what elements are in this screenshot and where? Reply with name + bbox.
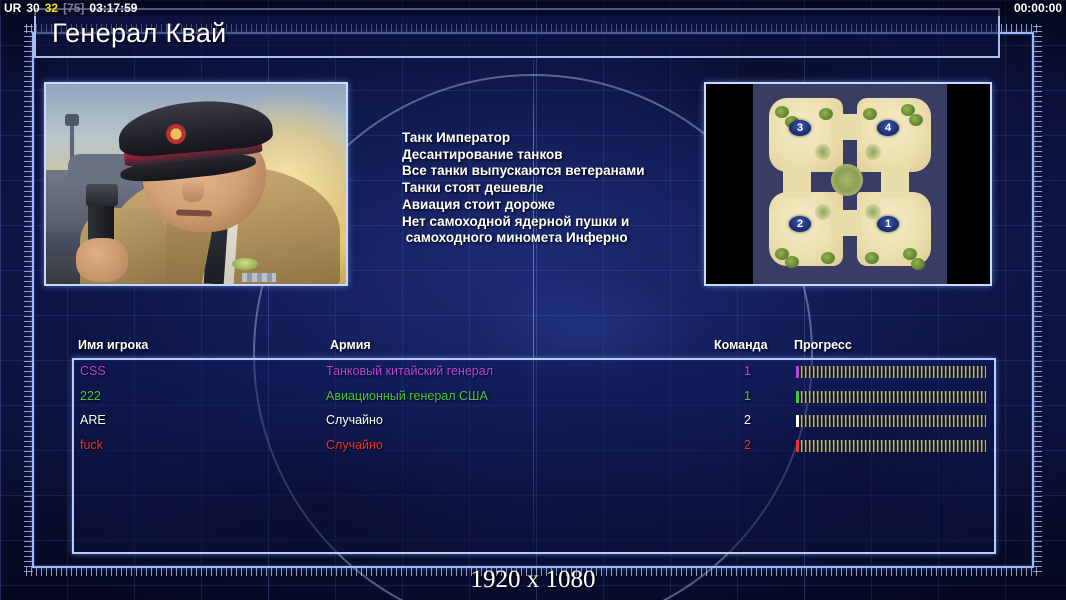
players-table: CSSТанковый китайский генерал1222Авиацио…: [72, 358, 996, 554]
player-team: 1: [744, 389, 751, 403]
page-title: Генерал Квай: [36, 18, 227, 49]
minimap-scrub: [865, 252, 879, 264]
game-screen: UR 30 32 [75] 03:17:59 00:00:00 Генерал …: [0, 0, 1066, 600]
description-line: Танк Император: [402, 130, 704, 147]
minimap-start-position-2: 2: [789, 216, 811, 232]
player-progress-bar: [796, 391, 986, 403]
description-line: Все танки выпускаются ветеранами: [402, 163, 704, 180]
player-progress-bar: [796, 415, 986, 427]
table-row[interactable]: 222Авиационный генерал США1: [74, 385, 994, 410]
minimap[interactable]: 3421: [753, 84, 947, 284]
player-progress-bar: [796, 440, 986, 452]
minimap-center-oasis: [831, 164, 863, 196]
minimap-start-position-4: 4: [877, 120, 899, 136]
ruler-right: [1033, 26, 1042, 574]
general-info-row: Танк Император Десантирование танков Все…: [44, 82, 992, 290]
portrait-pistol-slide: [86, 184, 118, 206]
table-row[interactable]: AREСлучайно2: [74, 409, 994, 434]
description-line: Авиация стоит дороже: [402, 197, 704, 214]
column-header-name: Имя игрока: [78, 338, 148, 352]
general-portrait: [46, 84, 346, 284]
minimap-frame[interactable]: 3421: [704, 82, 992, 286]
player-progress-color-cap: [796, 391, 799, 403]
table-row[interactable]: fuckСлучайно2: [74, 434, 994, 459]
minimap-scrub: [785, 256, 799, 268]
player-progress-fill: [796, 440, 986, 452]
table-row[interactable]: CSSТанковый китайский генерал1: [74, 360, 994, 385]
portrait-nose: [182, 178, 204, 202]
minimap-bridge-south: [831, 210, 861, 236]
player-name: fuck: [80, 438, 103, 452]
player-progress-color-cap: [796, 440, 799, 452]
player-progress-color-cap: [796, 366, 799, 378]
status-label: UR: [4, 1, 21, 15]
status-bar: UR 30 32 [75] 03:17:59 00:00:00: [0, 0, 1066, 16]
player-progress-bar: [796, 366, 986, 378]
column-header-progress: Прогресс: [794, 338, 852, 352]
player-army: Случайно: [326, 413, 383, 427]
player-team: 1: [744, 364, 751, 378]
portrait-wing-badge: [232, 258, 258, 270]
players-table-header: Имя игрока Армия Команда Прогресс: [78, 338, 994, 358]
status-value-1: 30: [26, 1, 39, 15]
description-line: Десантирование танков: [402, 147, 704, 164]
status-clock: 03:17:59: [89, 1, 137, 15]
status-bar-left: UR 30 32 [75] 03:17:59: [4, 1, 137, 15]
status-right-timer: 00:00:00: [1014, 1, 1062, 15]
player-progress-fill: [796, 391, 986, 403]
general-description: Танк Император Десантирование танков Все…: [348, 82, 704, 290]
player-name: 222: [80, 389, 101, 403]
minimap-bridge-north: [831, 114, 861, 140]
minimap-bridge-east: [881, 164, 909, 198]
description-line: Нет самоходной ядерной пушки и: [402, 214, 704, 231]
description-line: Танки стоят дешевле: [402, 180, 704, 197]
minimap-oasis: [865, 144, 881, 160]
minimap-oasis: [815, 204, 831, 220]
description-line: самоходного миномета Инферно: [402, 230, 704, 247]
player-progress-fill: [796, 415, 986, 427]
minimap-scrub: [863, 108, 877, 120]
player-progress-fill: [796, 366, 986, 378]
player-progress-color-cap: [796, 415, 799, 427]
resolution-label: 1920 x 1080: [0, 566, 1066, 594]
general-portrait-frame: [44, 82, 348, 286]
portrait-mouth: [176, 209, 212, 216]
player-name: CSS: [80, 364, 106, 378]
player-team: 2: [744, 438, 751, 452]
minimap-oasis: [815, 144, 831, 160]
minimap-scrub: [911, 258, 925, 270]
minimap-oasis: [865, 204, 881, 220]
player-army: Танковый китайский генерал: [326, 364, 493, 378]
minimap-scrub: [821, 252, 835, 264]
player-team: 2: [744, 413, 751, 427]
status-value-2: 32: [45, 1, 58, 15]
player-army: Авиационный генерал США: [326, 389, 488, 403]
minimap-bridge-west: [783, 164, 811, 198]
status-bracket: [75]: [63, 1, 84, 15]
column-header-team: Команда: [714, 338, 768, 352]
minimap-scrub: [819, 108, 833, 120]
player-name: ARE: [80, 413, 106, 427]
player-army: Случайно: [326, 438, 383, 452]
minimap-start-position-3: 3: [789, 120, 811, 136]
portrait-ribbons: [242, 273, 276, 282]
minimap-scrub: [909, 114, 923, 126]
minimap-start-position-1: 1: [877, 216, 899, 232]
portrait-pole-top: [65, 114, 79, 126]
column-header-army: Армия: [330, 338, 371, 352]
portrait-hand: [76, 238, 128, 282]
